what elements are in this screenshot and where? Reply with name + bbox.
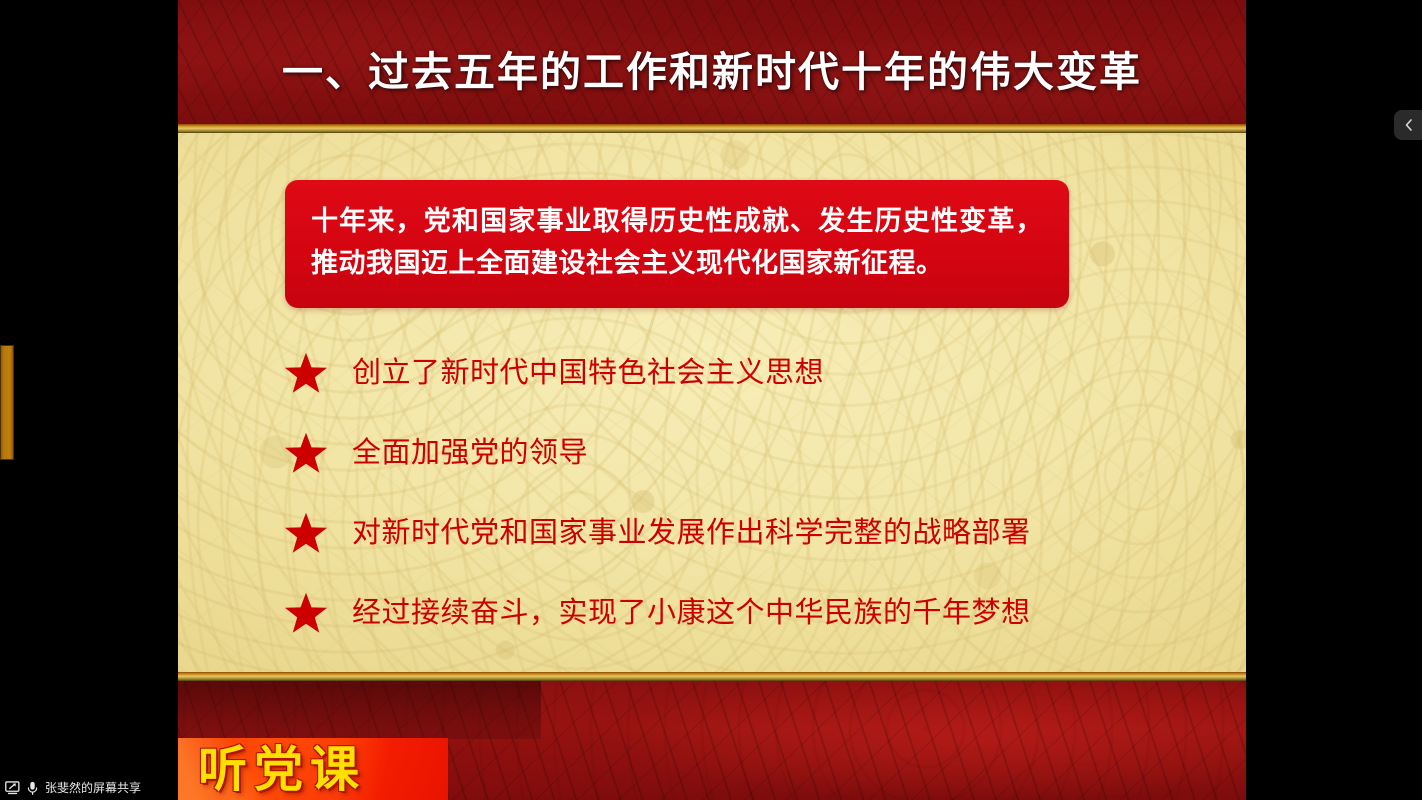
screen-share-status-bar: 张斐然的屏幕共享 — [0, 776, 178, 800]
list-item-label: 经过接续奋斗，实现了小康这个中华民族的千年梦想 — [352, 599, 1031, 628]
slide-footer-band: 听党课 — [178, 681, 1246, 800]
callout-text: 十年来，党和国家事业取得历史性成就、发生历史性变革，推动我国迈上全面建设社会主义… — [311, 201, 1043, 285]
bullet-list: 创立了新时代中国特色社会主义思想 全面加强党的领导 对新时代党和国家事业发展作出… — [284, 333, 1184, 653]
slide-content-panel: 十年来，党和国家事业取得历史性成就、发生历史性变革，推动我国迈上全面建设社会主义… — [178, 133, 1246, 672]
list-item-label: 创立了新时代中国特色社会主义思想 — [352, 359, 824, 388]
left-edge-accent-bar — [0, 345, 14, 460]
list-item-label: 全面加强党的领导 — [352, 439, 588, 468]
list-item: 经过接续奋斗，实现了小康这个中华民族的千年梦想 — [284, 573, 1184, 653]
screen-share-label: 张斐然的屏幕共享 — [45, 782, 141, 794]
slide-title: 一、过去五年的工作和新时代十年的伟大变革 — [178, 52, 1246, 93]
chevron-left-icon — [1404, 118, 1414, 132]
star-icon — [284, 511, 328, 555]
slide-header-band: 一、过去五年的工作和新时代十年的伟大变革 — [178, 0, 1246, 133]
microphone-icon[interactable] — [27, 781, 38, 796]
side-panel-toggle-button[interactable] — [1394, 110, 1422, 140]
gold-divider-top — [178, 124, 1246, 133]
list-item: 创立了新时代中国特色社会主义思想 — [284, 333, 1184, 413]
star-icon — [284, 591, 328, 635]
monitor-share-icon[interactable] — [5, 781, 20, 795]
list-item: 对新时代党和国家事业发展作出科学完整的战略部署 — [284, 493, 1184, 573]
footer-shadow-overlay — [178, 681, 541, 739]
lecture-banner-label: 听党课 — [198, 740, 366, 800]
highlight-callout-box: 十年来，党和国家事业取得历史性成就、发生历史性变革，推动我国迈上全面建设社会主义… — [285, 180, 1069, 308]
star-icon — [284, 351, 328, 395]
star-icon — [284, 431, 328, 475]
gold-divider-bottom — [178, 672, 1246, 681]
shared-screen-slide: 一、过去五年的工作和新时代十年的伟大变革 十年来，党和国家事业取得历史性成就、发… — [178, 0, 1246, 800]
list-item-label: 对新时代党和国家事业发展作出科学完整的战略部署 — [352, 519, 1031, 548]
lecture-banner: 听党课 — [178, 738, 448, 800]
list-item: 全面加强党的领导 — [284, 413, 1184, 493]
